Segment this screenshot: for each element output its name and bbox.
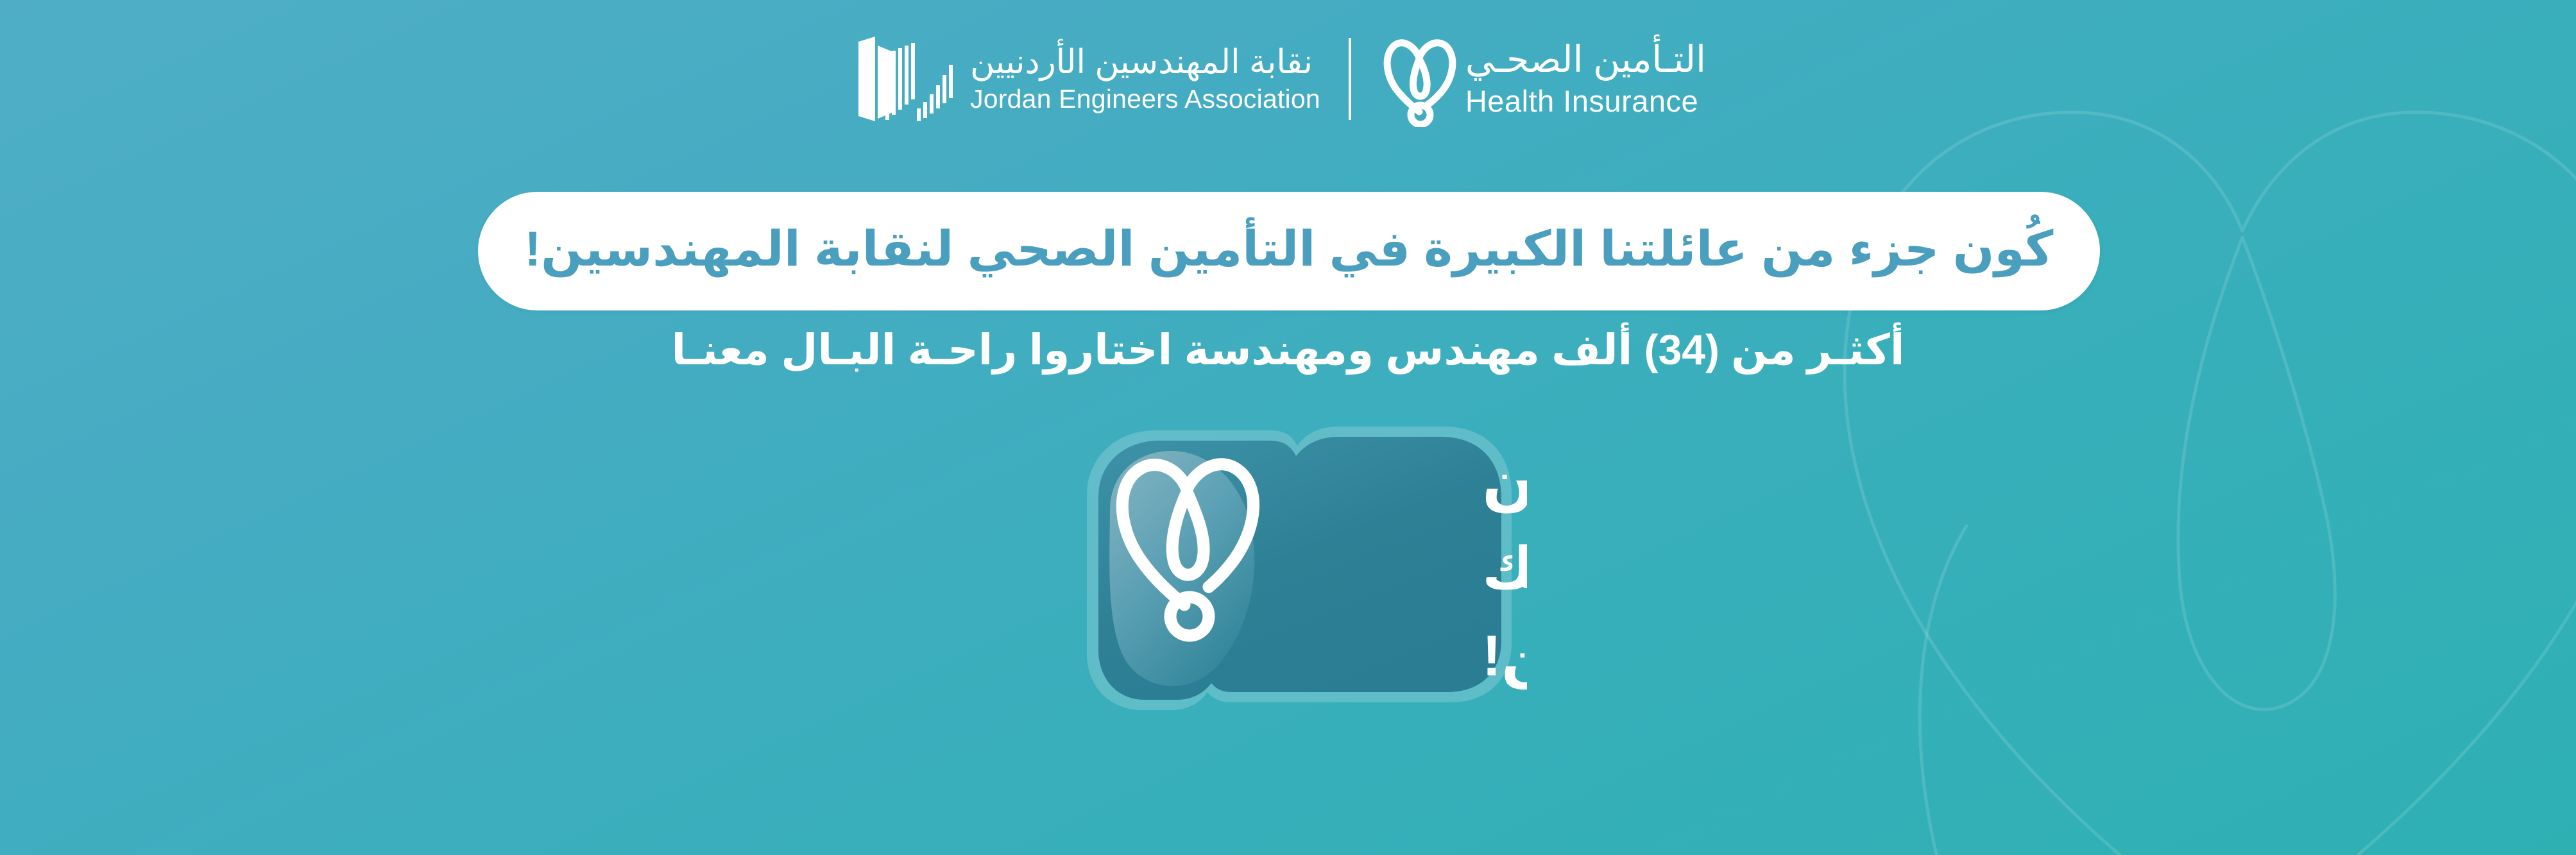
headline-pill: كُون جزء من عائلتنا الكبيرة في التأمين ا… <box>478 192 2100 310</box>
jea-arabic-name: نقابة المهندسين الأردنيين <box>970 46 1313 86</box>
health-insurance-logo: التـأمين الصحـي Health Insurance <box>1379 31 1723 127</box>
logo-lockup: نقابة المهندسين الأردنيين Jordan Enginee… <box>0 26 2576 131</box>
campaign-slogan-badge: أمِّــن وخليـك متطمِّـــن! <box>1059 420 1527 716</box>
jea-logo: نقابة المهندسين الأردنيين Jordan Enginee… <box>853 34 1320 124</box>
badge-line-2: وخليـك <box>1482 537 1527 603</box>
jea-building-mark-icon <box>853 34 956 124</box>
headline-text: كُون جزء من عائلتنا الكبيرة في التأمين ا… <box>525 225 2054 278</box>
health-insurance-english-name: Health Insurance <box>1465 86 1698 116</box>
jea-wordmark: نقابة المهندسين الأردنيين Jordan Enginee… <box>970 46 1320 112</box>
badge-line-3: متطمِّـــن! <box>1482 624 1527 690</box>
heart-stethoscope-icon <box>1379 31 1462 127</box>
health-insurance-banner: نقابة المهندسين الأردنيين Jordan Enginee… <box>0 0 2576 855</box>
badge-line-1: أمِّــن <box>1482 437 1527 513</box>
logo-divider <box>1349 38 1351 120</box>
health-insurance-arabic-name: التـأمين الصحـي <box>1465 42 1706 86</box>
jea-english-name: Jordan Engineers Association <box>970 86 1320 112</box>
subtitle-text: أكثـر من (34) ألف مهندس ومهندسة اختاروا … <box>0 328 2576 371</box>
badge-slogan-text: أمِّــن وخليـك متطمِّـــن! <box>1482 437 1527 690</box>
health-insurance-wordmark: التـأمين الصحـي Health Insurance <box>1465 42 1706 116</box>
